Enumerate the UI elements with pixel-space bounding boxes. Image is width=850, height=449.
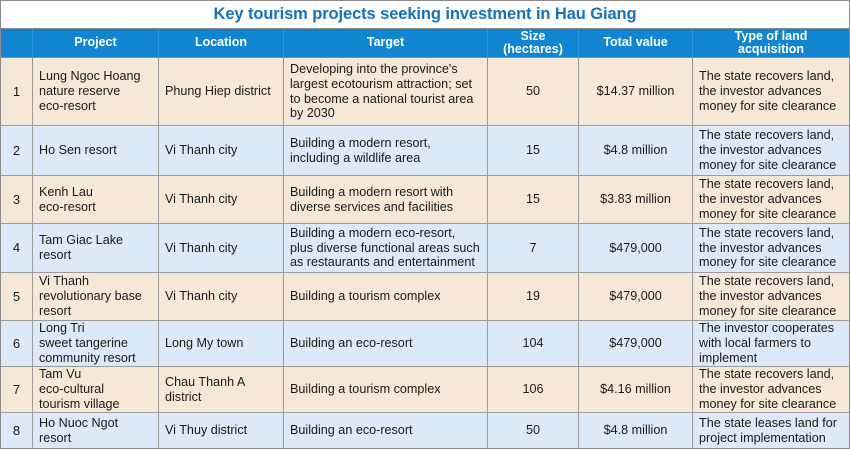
row-location: Chau Thanh A district — [159, 367, 284, 412]
row-target: Building an eco-resort — [284, 413, 488, 448]
row-land-acquisition: The investor cooperates with local farme… — [693, 321, 849, 366]
row-location: Vi Thuy district — [159, 413, 284, 448]
row-land-text: The state recovers land, the investor ad… — [699, 69, 843, 114]
row-target-text: Building an eco-resort — [290, 336, 413, 351]
row-location-text: Phung Hiep district — [165, 84, 271, 99]
row-total-value: $4.8 million — [579, 126, 693, 175]
row-land-text: The state recovers land, the investor ad… — [699, 367, 843, 412]
row-location: Vi Thanh city — [159, 224, 284, 272]
row-location-text: Vi Thanh city — [165, 289, 237, 304]
row-project: Tam Vu eco-cultural tourism village — [33, 367, 159, 412]
column-header-size-line1: Size — [520, 30, 545, 44]
row-land-text: The state recovers land, the investor ad… — [699, 177, 843, 222]
row-land-acquisition: The state leases land for project implem… — [693, 413, 849, 448]
column-header-total-value: Total value — [579, 29, 693, 57]
column-header-land-line1: Type of land — [735, 30, 808, 44]
row-total-value: $479,000 — [579, 273, 693, 320]
table-row: 2 Ho Sen resort Vi Thanh city Building a… — [1, 126, 849, 176]
row-index: 3 — [1, 176, 33, 223]
row-land-acquisition: The state recovers land, the investor ad… — [693, 58, 849, 125]
row-land-text: The state recovers land, the investor ad… — [699, 226, 843, 271]
row-project: Ho Sen resort — [33, 126, 159, 175]
column-header-land-line2: acquisition — [738, 43, 804, 57]
row-size: 15 — [488, 126, 579, 175]
row-size: 50 — [488, 413, 579, 448]
row-target: Developing into the province's largest e… — [284, 58, 488, 125]
row-index: 6 — [1, 321, 33, 366]
row-target-text: Building a tourism complex — [290, 382, 441, 397]
table-row: 4 Tam Giac Lake resort Vi Thanh city Bui… — [1, 224, 849, 273]
row-project-text: Lung Ngoc Hoang nature reserve eco-resor… — [39, 69, 141, 114]
row-project-text: Tam Vu eco-cultural tourism village — [39, 367, 120, 412]
row-location-text: Vi Thanh city — [165, 241, 237, 256]
row-index: 5 — [1, 273, 33, 320]
row-land-text: The investor cooperates with local farme… — [699, 321, 843, 366]
row-location-text: Long My town — [165, 336, 243, 351]
row-target-text: Building a tourism complex — [290, 289, 441, 304]
row-total-value: $4.8 million — [579, 413, 693, 448]
row-index: 8 — [1, 413, 33, 448]
row-land-acquisition: The state recovers land, the investor ad… — [693, 176, 849, 223]
row-target: Building a tourism complex — [284, 367, 488, 412]
column-header-index — [1, 29, 33, 57]
row-total-value: $14.37 million — [579, 58, 693, 125]
column-header-size-line2: (hectares) — [503, 43, 563, 57]
row-index: 1 — [1, 58, 33, 125]
row-total-value: $479,000 — [579, 224, 693, 272]
row-size: 104 — [488, 321, 579, 366]
table-title-bar: Key tourism projects seeking investment … — [1, 1, 849, 29]
table-row: 7 Tam Vu eco-cultural tourism village Ch… — [1, 367, 849, 413]
row-project: Tam Giac Lake resort — [33, 224, 159, 272]
row-land-acquisition: The state recovers land, the investor ad… — [693, 273, 849, 320]
row-total-value: $4.16 million — [579, 367, 693, 412]
row-target-text: Building a modern resort, including a wi… — [290, 136, 481, 166]
row-location: Vi Thanh city — [159, 273, 284, 320]
row-index: 4 — [1, 224, 33, 272]
row-index: 2 — [1, 126, 33, 175]
row-project: Kenh Lau eco-resort — [33, 176, 159, 223]
row-target-text: Building a modern eco-resort, plus diver… — [290, 226, 481, 271]
row-target: Building a modern eco-resort, plus diver… — [284, 224, 488, 272]
row-project: Lung Ngoc Hoang nature reserve eco-resor… — [33, 58, 159, 125]
row-land-text: The state recovers land, the investor ad… — [699, 274, 843, 319]
row-target: Building an eco-resort — [284, 321, 488, 366]
row-project-text: Tam Giac Lake resort — [39, 233, 123, 263]
row-project-text: Ho Nuoc Ngot resort — [39, 416, 118, 446]
row-index: 7 — [1, 367, 33, 412]
row-location: Long My town — [159, 321, 284, 366]
row-target: Building a modern resort with diverse se… — [284, 176, 488, 223]
row-size: 50 — [488, 58, 579, 125]
table-row: 5 Vi Thanh revolutionary base resort Vi … — [1, 273, 849, 321]
row-location: Vi Thanh city — [159, 126, 284, 175]
table-row: 6 Long Tri sweet tangerine community res… — [1, 321, 849, 367]
row-project: Long Tri sweet tangerine community resor… — [33, 321, 159, 366]
row-target: Building a modern resort, including a wi… — [284, 126, 488, 175]
row-location-text: Vi Thanh city — [165, 143, 237, 158]
row-location-text: Chau Thanh A district — [165, 375, 245, 405]
row-location-text: Vi Thuy district — [165, 423, 247, 438]
row-land-text: The state recovers land, the investor ad… — [699, 128, 843, 173]
row-target-text: Developing into the province's largest e… — [290, 62, 481, 121]
column-header-project: Project — [33, 29, 159, 57]
row-land-acquisition: The state recovers land, the investor ad… — [693, 224, 849, 272]
row-size: 106 — [488, 367, 579, 412]
row-location: Phung Hiep district — [159, 58, 284, 125]
row-land-acquisition: The state recovers land, the investor ad… — [693, 126, 849, 175]
column-header-land-acquisition: Type of land acquisition — [693, 29, 849, 57]
page-title: Key tourism projects seeking investment … — [214, 5, 637, 24]
row-total-value: $3.83 million — [579, 176, 693, 223]
row-project-text: Kenh Lau eco-resort — [39, 185, 96, 215]
tourism-projects-table: Key tourism projects seeking investment … — [0, 0, 850, 449]
table-row: 1 Lung Ngoc Hoang nature reserve eco-res… — [1, 58, 849, 126]
row-size: 15 — [488, 176, 579, 223]
row-target-text: Building a modern resort with diverse se… — [290, 185, 481, 215]
row-location-text: Vi Thanh city — [165, 192, 237, 207]
column-header-location: Location — [159, 29, 284, 57]
row-size: 19 — [488, 273, 579, 320]
row-project-text: Long Tri sweet tangerine community resor… — [39, 321, 136, 366]
row-land-text: The state leases land for project implem… — [699, 416, 843, 446]
row-target-text: Building an eco-resort — [290, 423, 413, 438]
row-location: Vi Thanh city — [159, 176, 284, 223]
row-land-acquisition: The state recovers land, the investor ad… — [693, 367, 849, 412]
row-project: Ho Nuoc Ngot resort — [33, 413, 159, 448]
row-target: Building a tourism complex — [284, 273, 488, 320]
row-project-text: Ho Sen resort — [39, 143, 117, 158]
row-project-text: Vi Thanh revolutionary base resort — [39, 274, 142, 319]
column-header-size: Size (hectares) — [488, 29, 579, 57]
table-header-row: Project Location Target Size (hectares) … — [1, 29, 849, 58]
table-row: 8 Ho Nuoc Ngot resort Vi Thuy district B… — [1, 413, 849, 448]
row-size: 7 — [488, 224, 579, 272]
row-project: Vi Thanh revolutionary base resort — [33, 273, 159, 320]
row-total-value: $479,000 — [579, 321, 693, 366]
column-header-target: Target — [284, 29, 488, 57]
table-row: 3 Kenh Lau eco-resort Vi Thanh city Buil… — [1, 176, 849, 224]
